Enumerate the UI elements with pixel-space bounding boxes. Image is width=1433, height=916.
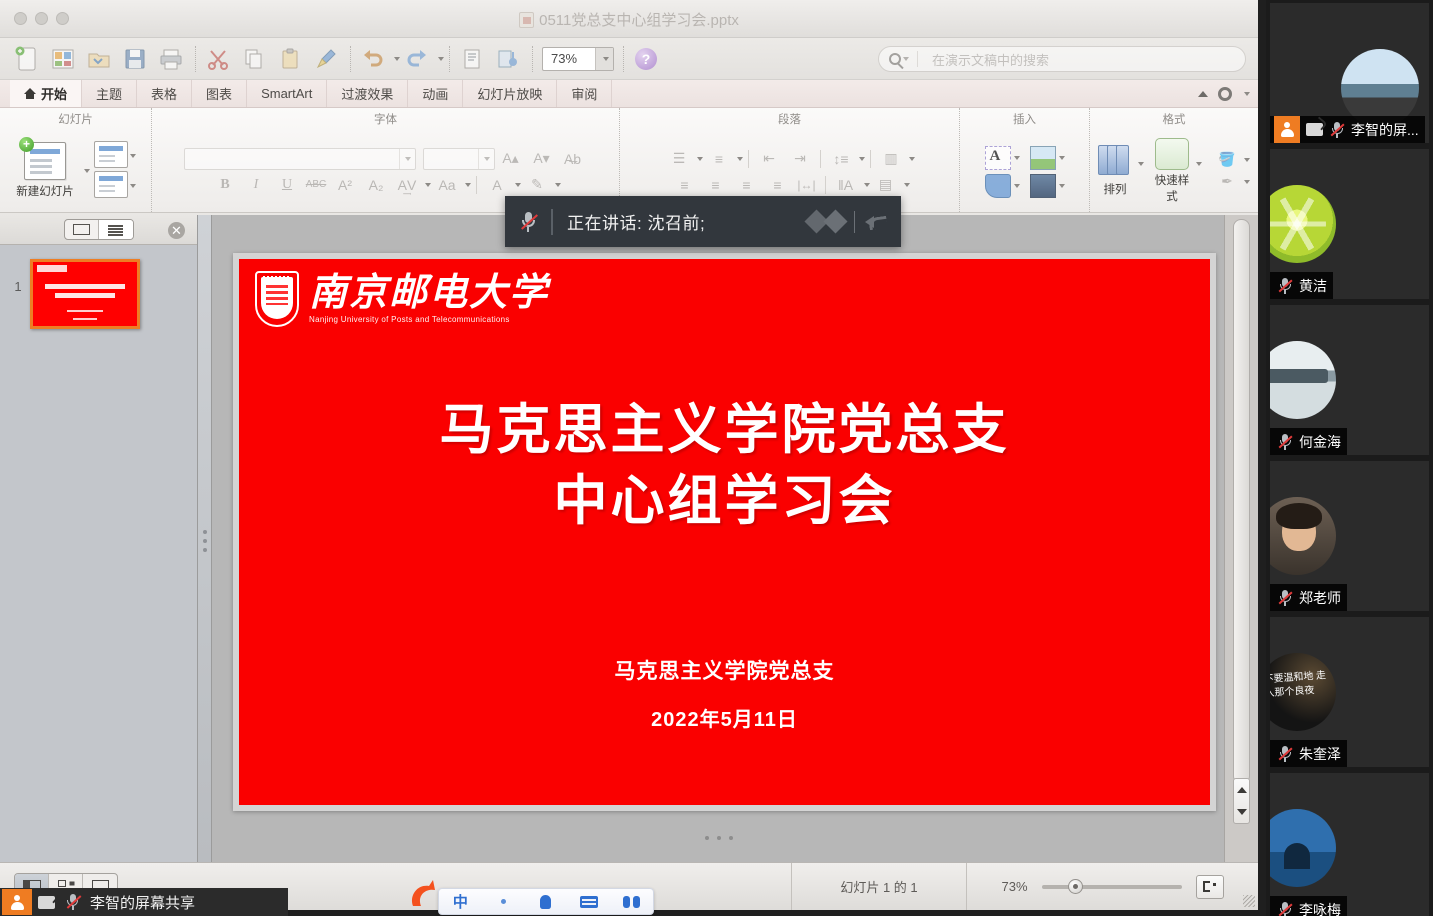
ime-ink-button[interactable] — [525, 895, 568, 909]
increase-font-size-button[interactable]: A▴ — [496, 148, 526, 170]
participant-tile-4[interactable]: 不要温和地 走入那个良夜 朱奎泽 — [1270, 617, 1429, 767]
participant-name: 郑老师 — [1296, 588, 1341, 608]
avatar — [1270, 809, 1336, 887]
fit-to-window-button[interactable] — [1196, 875, 1224, 899]
arrange-icon[interactable] — [1098, 145, 1132, 179]
sogou-logo-icon[interactable] — [403, 876, 459, 916]
collapse-ribbon-icon[interactable] — [1198, 91, 1208, 97]
participant-tile-3[interactable]: 郑老师 — [1270, 461, 1429, 611]
pane-view-toggle[interactable] — [64, 219, 134, 240]
thumbnail-pane-toolbar: ✕ — [0, 215, 197, 245]
thumbnail-logo — [37, 265, 67, 272]
share-label: 李智的屏幕共享 — [86, 892, 195, 913]
bullet-list-caret[interactable] — [697, 157, 703, 161]
quick-styles-icon[interactable] — [1155, 138, 1189, 170]
mic-muted-icon — [1326, 122, 1348, 138]
ribbon-tabbar: 开始 主题 表格 图表 SmartArt 过渡效果 动画 幻灯片放映 审阅 — [0, 80, 1258, 108]
underline-button[interactable]: U — [272, 174, 302, 196]
speaking-notification-overlay[interactable]: 正在讲话: 沈召前; — [505, 196, 901, 247]
ribbon-group-slides: 幻灯片 + 新建幻灯片 — [0, 108, 152, 212]
line-spacing-button[interactable]: ↕≡ — [826, 148, 856, 170]
tab-themes[interactable]: 主题 — [82, 80, 137, 107]
decrease-indent-button[interactable]: ⇤ — [754, 148, 784, 170]
new-slide-dropdown-caret[interactable] — [84, 169, 90, 173]
arrange-caret[interactable] — [1138, 162, 1144, 166]
shape-fill-button[interactable]: 🪣 — [1212, 149, 1242, 171]
slide-date: 2022年5月11日 — [239, 703, 1210, 732]
slide-title: 马克思主义学院党总支 中心组学习会 — [239, 395, 1210, 538]
clipboard-icon[interactable] — [273, 43, 307, 75]
line-spacing-caret[interactable] — [859, 157, 865, 161]
tab-animations[interactable]: 动画 — [408, 80, 463, 107]
slide-subtitle: 马克思主义学院党总支 — [239, 655, 1210, 685]
thumbnail-list-item[interactable]: 1 — [0, 245, 197, 329]
canvas-page-dots — [213, 827, 1224, 845]
ribbon-group-paragraph-title: 段落 — [620, 108, 959, 129]
participant-info-bar: 何金海 — [1270, 428, 1347, 455]
zoom-slider[interactable] — [1042, 885, 1182, 889]
insert-shape-caret[interactable] — [1014, 184, 1020, 188]
toolbar-divider — [195, 46, 196, 72]
search-dropdown-caret[interactable] — [903, 57, 909, 61]
scrollbar-arrows[interactable] — [1233, 778, 1250, 824]
media-browser-icon[interactable] — [491, 43, 525, 75]
columns-button[interactable]: ▥ — [876, 148, 906, 170]
font-family-select[interactable] — [184, 148, 416, 170]
thumbnail-slide-1[interactable] — [30, 259, 140, 329]
quick-styles-caret[interactable] — [1196, 162, 1202, 166]
mic-muted-icon — [60, 894, 86, 911]
gear-dropdown-caret[interactable] — [1244, 92, 1250, 96]
host-user-icon — [2, 889, 32, 915]
template-gallery-icon[interactable] — [46, 43, 80, 75]
search-placeholder: 在演示文稿中的搜索 — [932, 50, 1049, 69]
participant-tile-2[interactable]: 何金海 — [1270, 305, 1429, 455]
close-pane-button[interactable]: ✕ — [168, 222, 185, 239]
screen-share-bar[interactable]: 李智的屏幕共享 — [0, 888, 288, 916]
scroll-up-icon[interactable] — [1237, 787, 1247, 793]
change-case-button[interactable]: Aa — [432, 174, 462, 196]
tab-slideshow[interactable]: 幻灯片放映 — [463, 80, 557, 107]
slide-frame: 南京邮电大学 Nanjing University of Posts and T… — [233, 253, 1216, 811]
mic-muted-icon[interactable] — [505, 212, 551, 232]
participant-name: 李智的屏... — [1348, 120, 1419, 140]
outline-view-button[interactable] — [99, 220, 133, 239]
tab-home[interactable]: 开始 — [10, 80, 82, 107]
ribbon-group-insert-title: 插入 — [960, 108, 1089, 129]
scissors-icon[interactable] — [201, 43, 235, 75]
insert-media-icon[interactable] — [1030, 174, 1056, 198]
align-right-button[interactable]: ≡ — [732, 174, 762, 196]
search-input[interactable]: 在演示文稿中的搜索 — [878, 46, 1246, 72]
new-slide-label: 新建幻灯片 — [16, 183, 74, 199]
character-spacing-caret[interactable] — [425, 183, 431, 187]
slide-title-line2: 中心组学习会 — [239, 466, 1210, 537]
tab-transitions[interactable]: 过渡效果 — [327, 80, 408, 107]
powerpoint-window: 0511党总支中心组学习会.pptx — [0, 0, 1258, 910]
numbered-list-caret[interactable] — [737, 157, 743, 161]
superscript-button[interactable]: A² — [330, 174, 360, 196]
participant-info-bar: 黄洁 — [1270, 272, 1333, 299]
slide-theme-caret[interactable] — [130, 184, 136, 188]
slide-layout-caret[interactable] — [130, 154, 136, 158]
participant-name: 黄洁 — [1296, 276, 1327, 296]
insert-picture-caret[interactable] — [1059, 156, 1065, 160]
align-left-button[interactable]: ≡ — [670, 174, 700, 196]
status-zoom-value: 73% — [1001, 879, 1027, 894]
insert-textbox-icon[interactable] — [985, 146, 1011, 170]
quick-styles-label: 快速样式 — [1154, 172, 1190, 204]
printer-icon[interactable] — [154, 43, 188, 75]
participant-info-bar: 李咏梅 — [1270, 896, 1347, 916]
participant-tile-1[interactable]: 黄洁 — [1270, 149, 1429, 299]
character-spacing-button[interactable]: A͢V — [392, 174, 422, 196]
university-logo: 南京邮电大学 Nanjing University of Posts and T… — [255, 271, 549, 327]
zoom-level-input[interactable]: 73% — [542, 47, 614, 71]
text-highlight-caret[interactable] — [555, 183, 561, 187]
increase-indent-button[interactable]: ⇥ — [785, 148, 815, 170]
slide-theme-button[interactable] — [94, 171, 128, 198]
tab-smartart[interactable]: SmartArt — [247, 80, 327, 107]
notes-icon[interactable] — [455, 43, 489, 75]
new-slide-icon: + — [24, 142, 66, 180]
participant-info-bar: 李智的屏... — [1270, 116, 1425, 143]
screen-share-icon — [32, 889, 60, 915]
distribute-button[interactable]: |↔| — [794, 174, 820, 196]
justify-button[interactable]: ≡ — [763, 174, 793, 196]
participant-video-strip: 李智的屏... 黄洁 何金海 — [1266, 0, 1433, 916]
slides-view-button[interactable] — [65, 220, 99, 239]
fit-icon — [1203, 881, 1216, 892]
participant-name: 何金海 — [1296, 432, 1341, 452]
decrease-font-size-button[interactable]: A▾ — [527, 148, 557, 170]
participant-name: 李咏梅 — [1296, 900, 1341, 916]
avatar — [1270, 497, 1336, 575]
toolbar-divider — [623, 46, 624, 72]
align-text-button[interactable]: ▤ — [871, 174, 901, 196]
italic-button[interactable]: I — [241, 174, 271, 196]
zoom-level-value: 73% — [543, 51, 595, 66]
save-disk-icon[interactable] — [118, 43, 152, 75]
slide-thumbnail-pane: ✕ 1 — [0, 215, 198, 862]
insert-textbox-caret[interactable] — [1014, 156, 1020, 160]
align-center-button[interactable]: ≡ — [701, 174, 731, 196]
scroll-down-icon[interactable] — [1237, 809, 1247, 815]
font-color-button[interactable]: A — [482, 174, 512, 196]
editor-workspace: ✕ 1 — [0, 215, 1258, 862]
copy-icon[interactable] — [237, 43, 271, 75]
home-icon — [24, 88, 36, 99]
ribbon-group-font-title: 字体 — [152, 108, 619, 129]
undo-arrow-icon[interactable] — [356, 43, 390, 75]
open-folder-icon[interactable] — [82, 43, 116, 75]
host-user-icon — [1274, 116, 1300, 143]
return-arrow-icon[interactable] — [865, 213, 887, 231]
ime-keyboard-button[interactable] — [567, 896, 610, 908]
ribbon-group-insert: 插入 — [960, 108, 1090, 212]
zoom-controls: 73% — [966, 863, 1258, 910]
redo-arrow-icon[interactable] — [400, 43, 434, 75]
columns-caret[interactable] — [909, 157, 915, 161]
speaking-text: 正在讲话: 沈召前; — [567, 209, 808, 234]
align-text-caret[interactable] — [904, 183, 910, 187]
mic-muted-icon — [1274, 902, 1296, 916]
mic-muted-icon — [1274, 278, 1296, 294]
screen-share-icon — [1302, 116, 1326, 143]
participant-info-bar: 郑老师 — [1270, 584, 1347, 611]
bullet-list-button[interactable]: ☰ — [664, 148, 694, 170]
slide-count-label: 幻灯片 1 的 1 — [791, 863, 966, 910]
mic-muted-icon — [1274, 746, 1296, 762]
insert-picture-icon[interactable] — [1030, 146, 1056, 170]
tab-tables[interactable]: 表格 — [137, 80, 192, 107]
zoom-slider-knob[interactable] — [1068, 879, 1083, 894]
ribbon-group-format: 格式 排列 快速样式 🪣 — [1090, 108, 1258, 212]
change-case-caret[interactable] — [465, 183, 471, 187]
avatar — [1270, 341, 1336, 419]
tab-charts[interactable]: 图表 — [192, 80, 247, 107]
slide-canvas-area: 南京邮电大学 Nanjing University of Posts and T… — [213, 215, 1224, 862]
font-color-caret[interactable] — [515, 183, 521, 187]
redo-dropdown-caret[interactable] — [438, 57, 444, 61]
zoom-stepper[interactable] — [595, 48, 613, 70]
slide-content[interactable]: 南京邮电大学 Nanjing University of Posts and T… — [239, 259, 1210, 805]
document-title-text: 0511党总支中心组学习会.pptx — [539, 12, 739, 29]
avatar-text: 不要温和地 走入那个良夜 — [1270, 669, 1336, 702]
mic-muted-icon — [1274, 434, 1296, 450]
toolbar-divider — [350, 46, 351, 72]
quick-access-toolbar: 73% ? 在演示文稿中的搜索 — [0, 38, 1258, 80]
text-highlight-button[interactable]: ✎ — [522, 174, 552, 196]
strikethrough-button[interactable]: ABC — [303, 174, 329, 196]
scrollbar-thumb[interactable] — [1233, 219, 1250, 784]
new-slide-button[interactable]: + 新建幻灯片 — [8, 142, 82, 199]
text-direction-button[interactable]: ‖A — [831, 174, 861, 196]
tab-review[interactable]: 审阅 — [557, 80, 612, 107]
participant-name: 朱奎泽 — [1296, 744, 1341, 764]
ime-toolbox-button[interactable] — [610, 896, 653, 908]
mic-muted-icon — [1274, 590, 1296, 606]
insert-media-caret[interactable] — [1059, 184, 1065, 188]
shield-icon — [255, 271, 299, 327]
clear-formatting-button[interactable]: A̶b — [558, 148, 588, 170]
participant-tile-0[interactable]: 李智的屏... — [1270, 3, 1429, 143]
subscript-button[interactable]: A₂ — [361, 174, 391, 196]
window-resize-grip[interactable] — [1243, 895, 1255, 907]
diamond-icon-2 — [823, 209, 847, 233]
slide-layout-button[interactable] — [94, 141, 128, 168]
numbered-list-button[interactable]: ≡ — [704, 148, 734, 170]
arrange-label: 排列 — [1104, 181, 1127, 197]
help-button[interactable]: ? — [635, 48, 657, 70]
sogou-ime-toolbar[interactable]: 中 — [438, 888, 654, 915]
overlay-controls[interactable] — [808, 211, 901, 233]
logo-chinese-name: 南京邮电大学 — [309, 274, 549, 312]
logo-english-name: Nanjing University of Posts and Telecomm… — [309, 315, 549, 324]
font-size-select[interactable] — [423, 148, 495, 170]
toolbar-divider — [449, 46, 450, 72]
slide-title-line1: 马克思主义学院党总支 — [239, 395, 1210, 466]
new-file-icon[interactable] — [10, 43, 44, 75]
paintbrush-icon[interactable] — [309, 43, 343, 75]
avatar: 不要温和地 走入那个良夜 — [1270, 653, 1336, 731]
thumbnail-number: 1 — [6, 259, 30, 294]
bold-button[interactable]: B — [210, 174, 240, 196]
canvas-vertical-scrollbar[interactable] — [1224, 215, 1258, 862]
ribbon-group-slides-title: 幻灯片 — [0, 108, 151, 129]
insert-shape-icon[interactable] — [985, 174, 1011, 198]
powerpoint-file-icon — [519, 12, 534, 28]
toolbar-divider — [532, 46, 533, 72]
search-icon — [889, 53, 901, 65]
gear-icon[interactable] — [1218, 87, 1232, 101]
avatar — [1270, 185, 1336, 263]
text-direction-caret[interactable] — [864, 183, 870, 187]
document-title: 0511党总支中心组学习会.pptx — [0, 9, 1258, 30]
participant-tile-5[interactable]: 李咏梅 — [1270, 773, 1429, 916]
window-titlebar: 0511党总支中心组学习会.pptx — [0, 0, 1258, 38]
ime-emoji-button[interactable] — [482, 899, 525, 904]
pane-splitter[interactable] — [198, 215, 212, 862]
participant-info-bar: 朱奎泽 — [1270, 740, 1347, 767]
shape-line-button[interactable]: ✒ — [1212, 171, 1242, 193]
ribbon-group-format-title: 格式 — [1090, 108, 1258, 129]
